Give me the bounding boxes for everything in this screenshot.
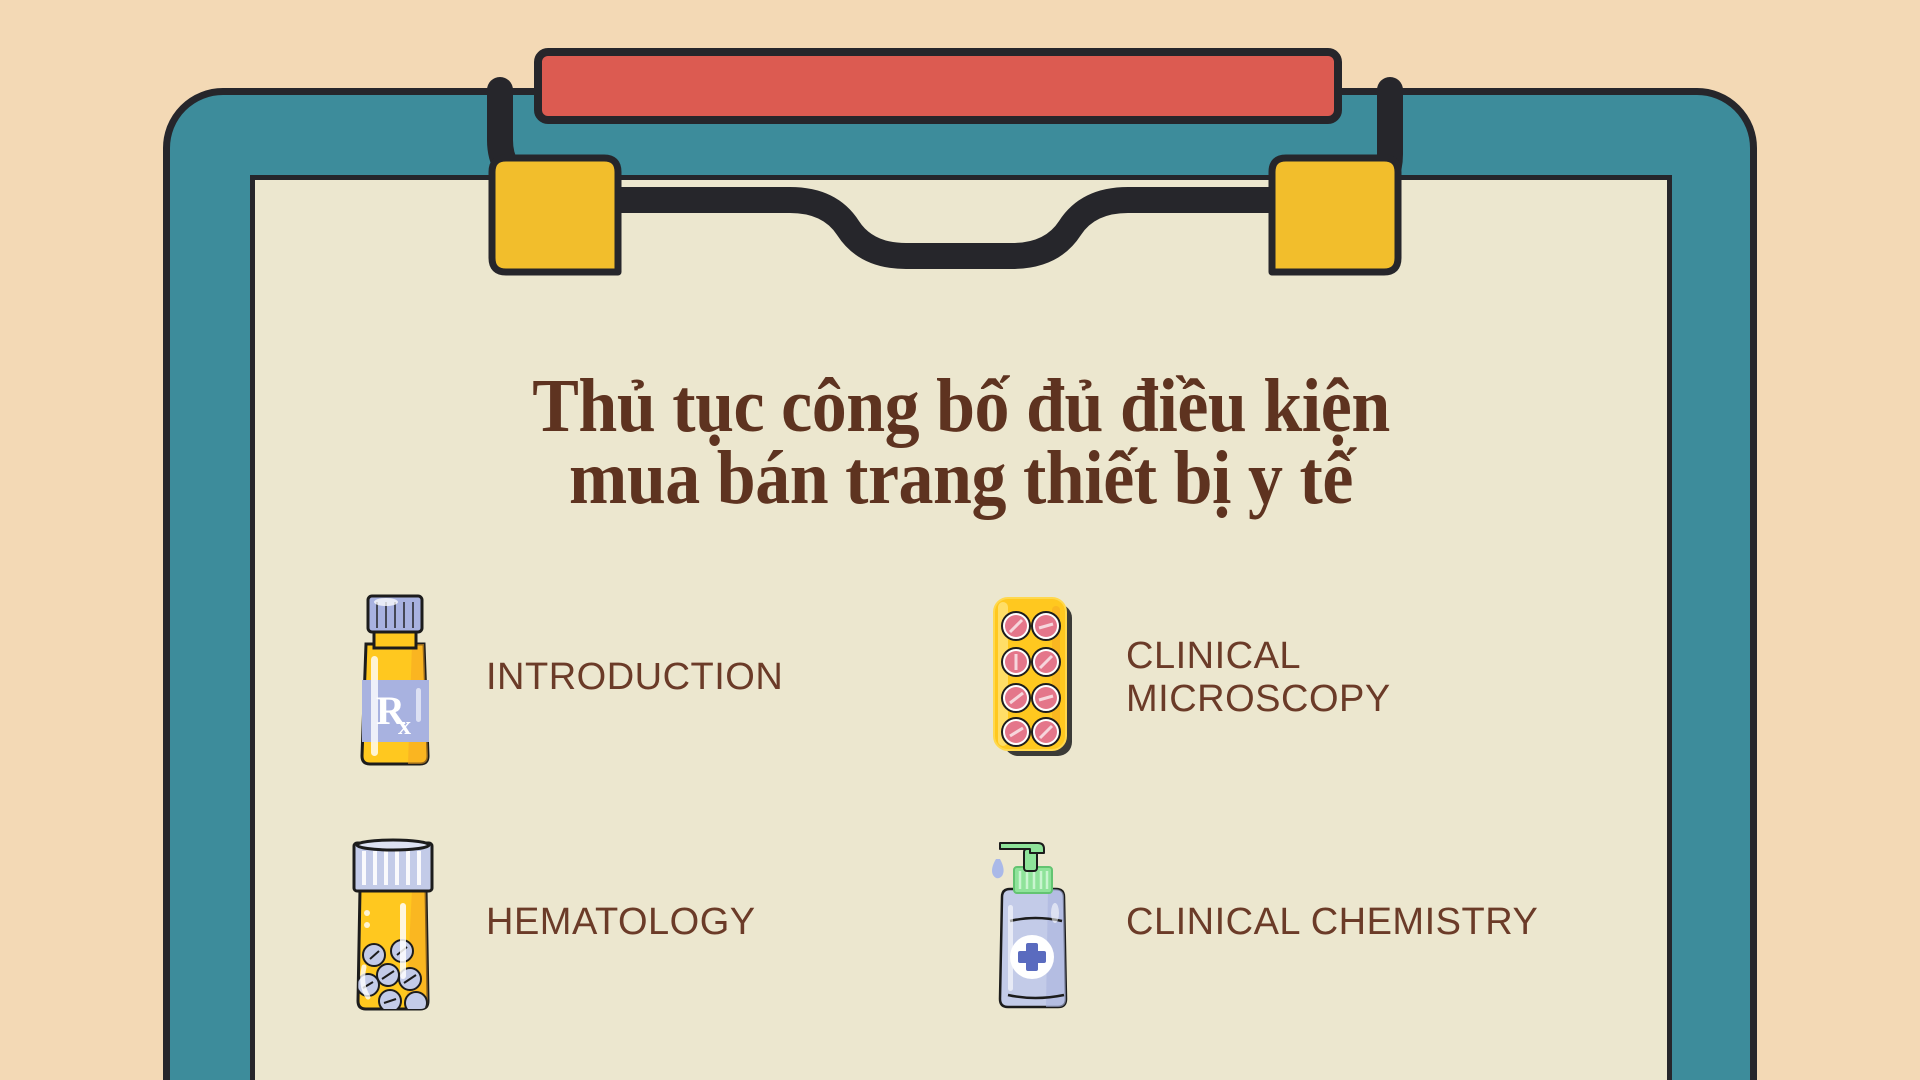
menu-label-clinical-microscopy: CLINICAL MICROSCOPY [1126,635,1391,720]
menu-label-hematology: HEMATOLOGY [486,901,756,944]
page-title-line-2: mua bán trang thiết bị y tế [307,442,1615,514]
pill-bottle-icon [340,828,450,1018]
poster-canvas: Thủ tục công bố đủ điều kiện mua bán tra… [0,0,1920,1080]
svg-text:x: x [398,711,411,740]
sanitizer-pump-bottle-icon [980,828,1090,1018]
pill-blister-pack-icon [980,583,1090,773]
menu-item-clinical-chemistry[interactable]: CLINICAL CHEMISTRY [980,800,1600,1045]
menu-item-hematology[interactable]: HEMATOLOGY [340,800,960,1045]
rx-medicine-bottle-icon: R x [340,583,450,773]
page-title: Thủ tục công bố đủ điều kiện mua bán tra… [307,370,1615,514]
menu-item-clinical-microscopy[interactable]: CLINICAL MICROSCOPY [980,555,1600,800]
page-title-line-1: Thủ tục công bố đủ điều kiện [307,370,1615,442]
menu-label-introduction: INTRODUCTION [486,656,783,699]
menu-label-clinical-chemistry: CLINICAL CHEMISTRY [1126,901,1538,944]
menu-grid: R x INTRODUCTION [340,555,1600,1045]
menu-item-introduction[interactable]: R x INTRODUCTION [340,555,960,800]
